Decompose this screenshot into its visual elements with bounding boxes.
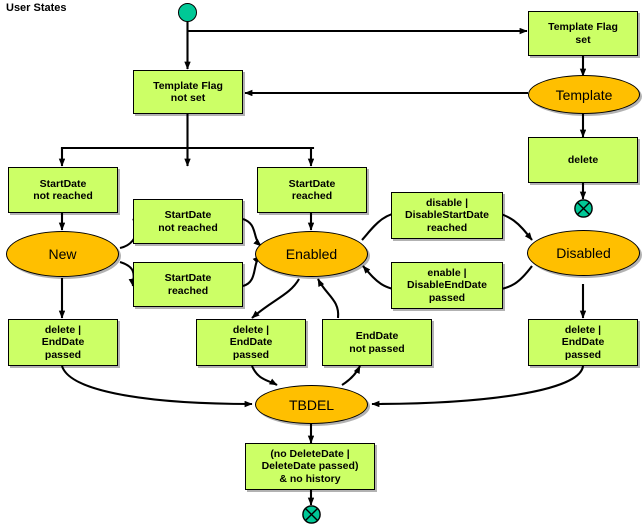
transition-template-flag-not-set[interactable]: Template Flag not set (133, 70, 243, 114)
transition-startdate-not-reached-2[interactable]: StartDate not reached (133, 199, 243, 244)
state-disabled[interactable]: Disabled (527, 230, 640, 276)
transition-template-delete[interactable]: delete (528, 137, 638, 183)
transition-tbdel-purge[interactable]: (no DeleteDate | DeleteDate passed) & no… (245, 443, 375, 490)
transition-startdate-reached-2[interactable]: StartDate reached (133, 262, 243, 307)
transition-delete-enddate-enabled[interactable]: delete | EndDate passed (196, 319, 306, 366)
state-tbdel[interactable]: TBDEL (255, 385, 368, 424)
transition-delete-enddate-new[interactable]: delete | EndDate passed (8, 319, 118, 366)
transition-enable-guard[interactable]: enable | DisableEndDate passed (391, 262, 503, 309)
state-diagram-canvas: User States (0, 0, 643, 529)
diagram-title: User States (6, 2, 67, 14)
state-new[interactable]: New (6, 231, 119, 277)
transition-delete-enddate-disabled[interactable]: delete | EndDate passed (528, 319, 638, 366)
state-enabled[interactable]: Enabled (255, 231, 368, 277)
transition-disable-guard[interactable]: disable | DisableStartDate reached (391, 192, 503, 239)
transition-startdate-reached-1[interactable]: StartDate reached (257, 167, 367, 213)
transition-enddate-not-passed[interactable]: EndDate not passed (322, 319, 432, 366)
end-node-tbdel (302, 505, 321, 524)
state-template[interactable]: Template (528, 75, 640, 114)
transition-startdate-not-reached-1[interactable]: StartDate not reached (8, 167, 118, 213)
end-node-template (574, 199, 593, 218)
start-node (178, 3, 197, 22)
transition-template-flag-set[interactable]: Template Flag set (528, 11, 638, 56)
